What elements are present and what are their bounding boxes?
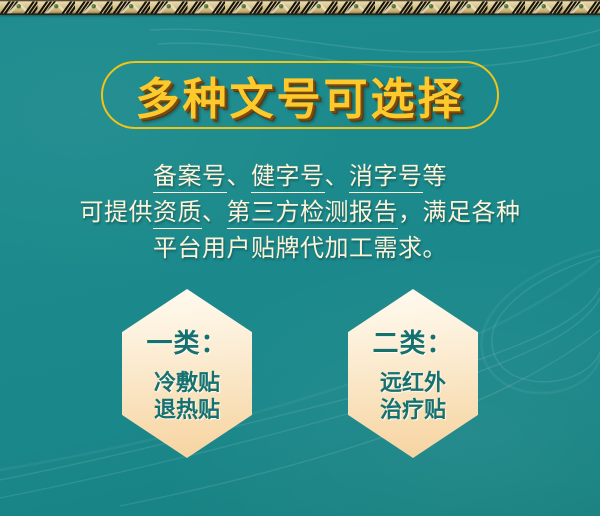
category-hexagon-card-2[interactable]: 二类： 远红外 治疗贴 [348, 289, 478, 458]
hex-1-items: 冷敷贴 退热贴 [154, 370, 220, 424]
separator: 、 [227, 162, 252, 190]
page-title: 多种文号可选择 [101, 61, 499, 129]
body-line-2-tail: ，满足各种 [398, 198, 521, 226]
body-line-3: 平台用户贴牌代加工需求。 [0, 230, 600, 266]
term-zizhi: 资质 [153, 198, 202, 229]
body-line-2-head: 可提供 [80, 198, 154, 226]
term-jianzi-hao: 健字号 [251, 162, 325, 193]
body-line-1: 备案号、健字号、消字号等 [0, 158, 600, 194]
separator: 、 [202, 198, 227, 226]
hex-2-items: 远红外 治疗贴 [380, 370, 446, 424]
hex-2-item-1: 远红外 [380, 370, 446, 397]
separator: 、 [325, 162, 350, 190]
body-line-2: 可提供资质、第三方检测报告，满足各种 [0, 194, 600, 230]
hex-1-item-1: 冷敷贴 [154, 370, 220, 397]
term-third-party-report: 第三方检测报告 [227, 198, 399, 229]
border-pattern-tiles [0, 0, 600, 15]
term-beian-hao: 备案号 [153, 162, 227, 193]
term-xiaozi-hao: 消字号 [349, 162, 423, 193]
poster-canvas: 多种文号可选择 备案号、健字号、消字号等 可提供资质、第三方检测报告，满足各种 … [0, 0, 600, 516]
hex-1-item-2: 退热贴 [154, 397, 220, 424]
body-paragraph: 备案号、健字号、消字号等 可提供资质、第三方检测报告，满足各种 平台用户贴牌代加… [0, 158, 600, 266]
top-decorative-border [0, 0, 600, 15]
hex-2-heading: 二类： [372, 323, 453, 360]
category-hexagon-card-1[interactable]: 一类： 冷敷贴 退热贴 [122, 289, 252, 458]
hex-2-item-2: 治疗贴 [380, 397, 446, 424]
hex-1-heading: 一类： [146, 323, 227, 360]
body-line-1-tail: 等 [423, 162, 448, 190]
